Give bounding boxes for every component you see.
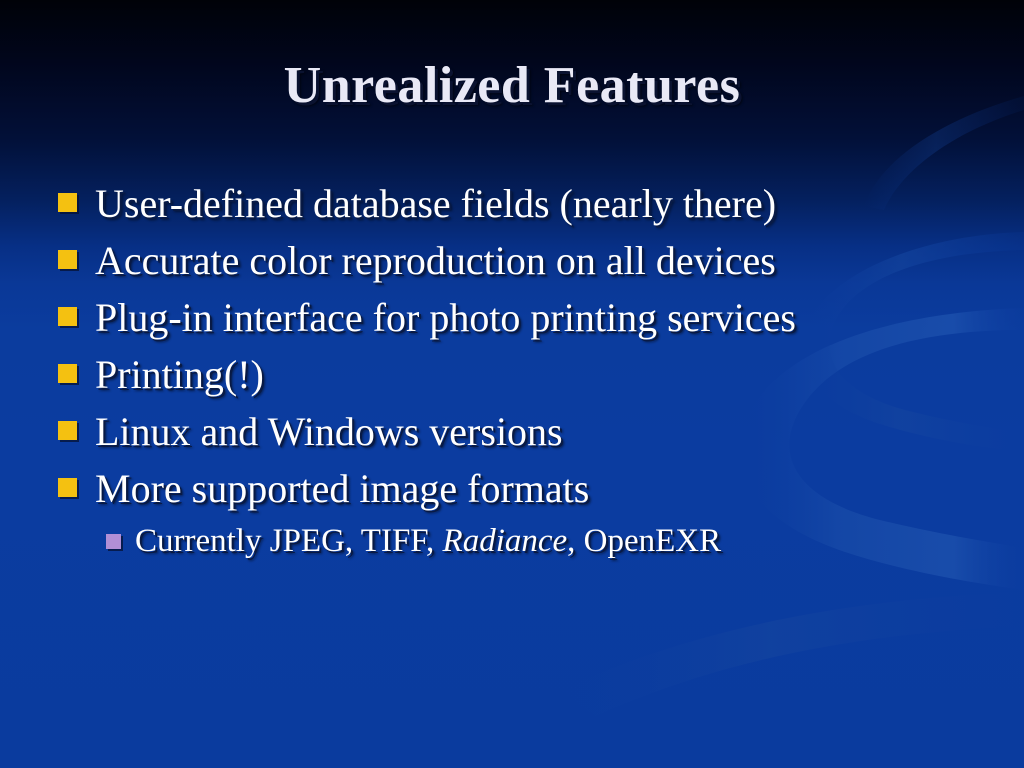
slide-title: Unrealized Features [0, 56, 1024, 115]
list-item: More supported image formats [58, 463, 998, 514]
list-item: Linux and Windows versions [58, 406, 998, 457]
list-item-label: Linux and Windows versions [95, 406, 835, 457]
bullet-square-icon [58, 193, 77, 212]
list-item-label: Plug-in interface for photo printing ser… [95, 292, 835, 343]
list-item: Accurate color reproduction on all devic… [58, 235, 998, 286]
sub-list-item: Currently JPEG, TIFF, Radiance, OpenEXR [106, 520, 998, 562]
sub-list-item-suffix: , OpenEXR [567, 523, 721, 559]
list-item-label: Accurate color reproduction on all devic… [95, 235, 835, 286]
bullet-square-icon [58, 421, 77, 440]
list-item: Printing(!) [58, 349, 998, 400]
slide-body-list: User-defined database fields (nearly the… [58, 178, 998, 562]
bullet-square-icon [58, 307, 77, 326]
sub-bullet-square-icon [106, 534, 121, 549]
sub-list-item-emphasis: Radiance [443, 523, 568, 559]
list-item-label: More supported image formats [95, 463, 835, 514]
sub-list-item-label: Currently JPEG, TIFF, Radiance, OpenEXR [135, 520, 998, 562]
list-item: Plug-in interface for photo printing ser… [58, 292, 998, 343]
bullet-square-icon [58, 250, 77, 269]
list-item-label: Printing(!) [95, 349, 835, 400]
presentation-slide: Unrealized Features User-defined databas… [0, 0, 1024, 768]
list-item: User-defined database fields (nearly the… [58, 178, 998, 229]
bullet-square-icon [58, 364, 77, 383]
list-item-label: User-defined database fields (nearly the… [95, 178, 835, 229]
bullet-square-icon [58, 478, 77, 497]
sub-list-item-prefix: Currently JPEG, TIFF, [135, 523, 443, 559]
